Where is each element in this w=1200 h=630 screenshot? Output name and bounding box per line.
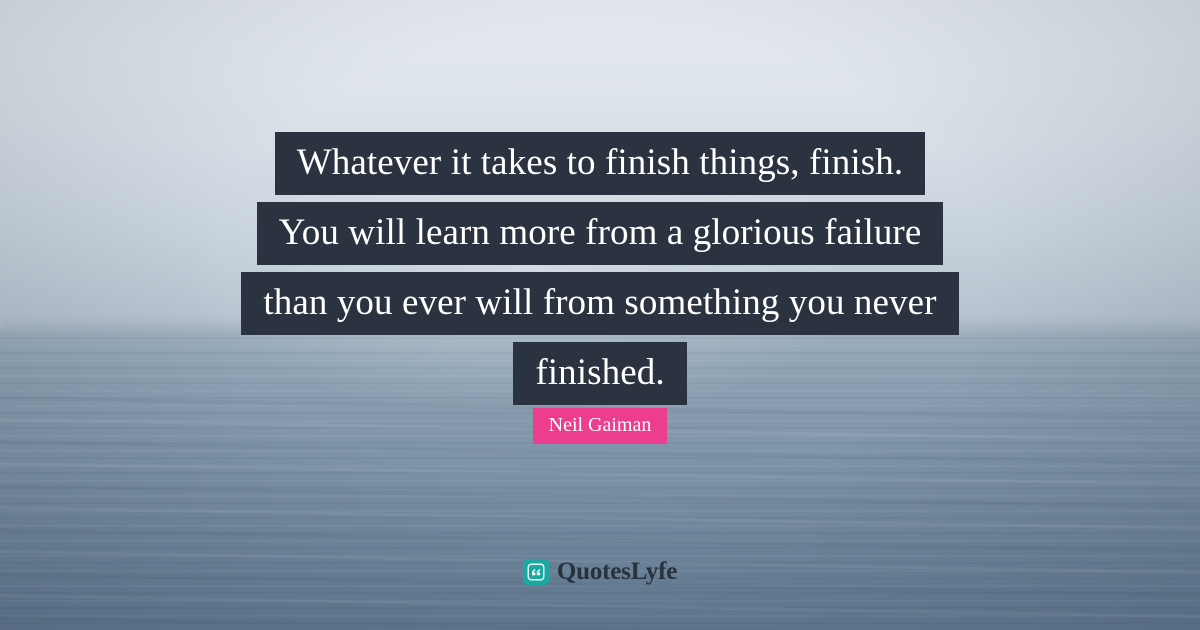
quote-line: than you ever will from something you ne… xyxy=(241,272,958,335)
quote-line: finished. xyxy=(513,342,686,405)
quote-author-block: Neil Gaiman xyxy=(0,408,1200,444)
quote-card: Whatever it takes to finish things, fini… xyxy=(0,0,1200,630)
quote-mark-icon xyxy=(523,559,549,585)
quote-line: You will learn more from a glorious fail… xyxy=(257,202,944,265)
brand-footer: QuotesLyfe xyxy=(0,558,1200,586)
quote-text-block: Whatever it takes to finish things, fini… xyxy=(0,132,1200,412)
quote-author: Neil Gaiman xyxy=(533,408,668,444)
quote-line: Whatever it takes to finish things, fini… xyxy=(275,132,925,195)
brand-name: QuotesLyfe xyxy=(557,558,677,586)
